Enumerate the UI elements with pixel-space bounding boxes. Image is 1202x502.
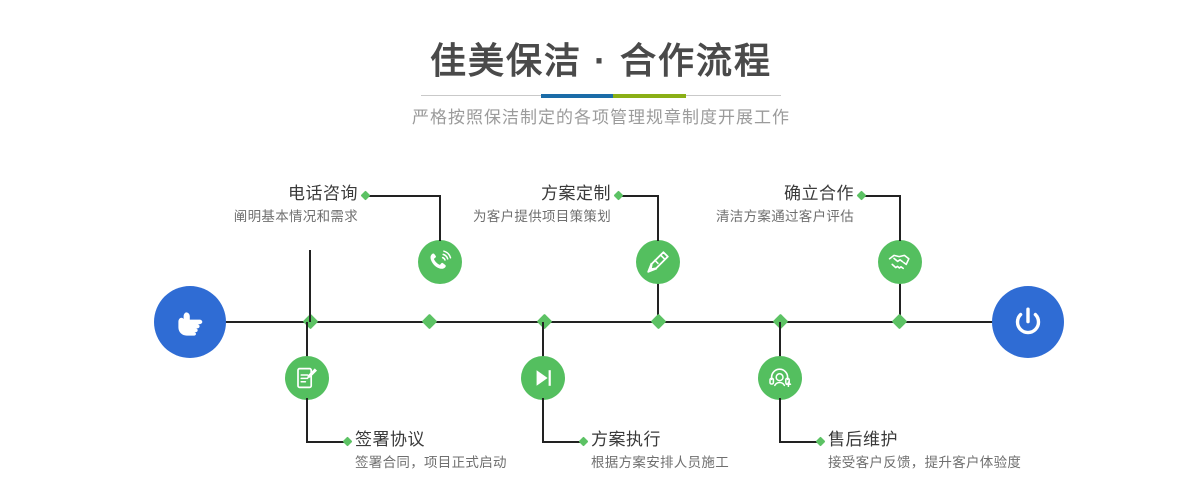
step-node-1[interactable] [418, 240, 462, 284]
label-diamond-1 [361, 191, 371, 201]
play-skip-icon [530, 365, 556, 391]
timeline-start-node[interactable] [154, 286, 226, 358]
label-diamond-5 [857, 191, 867, 201]
elbow-h-5 [863, 195, 901, 197]
step-node-4[interactable] [521, 356, 565, 400]
stem-6 [779, 322, 781, 358]
elbow-h-6 [779, 441, 819, 443]
title-divider [421, 94, 781, 98]
page-subtitle: 严格按照保洁制定的各项管理规章制度开展工作 [0, 106, 1202, 130]
customer-support-add-icon [767, 365, 793, 391]
divider-segment-green [613, 94, 686, 98]
step-node-6[interactable] [758, 356, 802, 400]
label-diamond-2 [343, 437, 353, 447]
step-node-2[interactable] [285, 356, 329, 400]
step-desc-6: 接受客户反馈，提升客户体验度 [828, 453, 1118, 473]
axis-diamond-2 [422, 314, 438, 330]
step-title-1: 电话咨询 [140, 183, 358, 205]
elbow-v-6 [779, 398, 781, 442]
handshake-icon [887, 249, 913, 275]
step-label-1: 电话咨询 阐明基本情况和需求 [140, 183, 358, 227]
axis-diamond-6 [892, 314, 908, 330]
step-label-5: 确立合作 清洁方案通过客户评估 [624, 183, 854, 227]
stem-4 [542, 322, 544, 358]
document-pen-icon [294, 365, 320, 391]
elbow-h-2 [306, 441, 346, 443]
pointing-hand-icon [170, 302, 210, 342]
step-title-3: 方案定制 [380, 183, 611, 205]
elbow-h-4 [542, 441, 582, 443]
step-label-6: 售后维护 接受客户反馈，提升客户体验度 [828, 429, 1118, 473]
step-desc-3: 为客户提供项目策策划 [380, 207, 611, 227]
step-node-5[interactable] [878, 240, 922, 284]
step-label-4: 方案执行 根据方案安排人员施工 [591, 429, 841, 473]
step-label-2: 签署协议 签署合同，项目正式启动 [355, 429, 605, 473]
axis-diamond-4 [651, 314, 667, 330]
step-desc-4: 根据方案安排人员施工 [591, 453, 841, 473]
pencil-ruler-icon [645, 249, 671, 275]
elbow-v-5 [899, 195, 901, 241]
step-node-3[interactable] [636, 240, 680, 284]
step-desc-5: 清洁方案通过客户评估 [624, 207, 854, 227]
elbow-v-2 [306, 398, 308, 442]
phone-call-icon [427, 249, 453, 275]
step-label-3: 方案定制 为客户提供项目策策划 [380, 183, 611, 227]
axis-diamond-3 [537, 314, 553, 330]
stem-1 [309, 250, 311, 322]
step-title-2: 签署协议 [355, 429, 605, 451]
power-icon [1008, 302, 1048, 342]
process-timeline: 电话咨询 阐明基本情况和需求 签署协议 签署合同，项目正式启动 [0, 150, 1202, 502]
label-diamond-3 [614, 191, 624, 201]
step-title-6: 售后维护 [828, 429, 1118, 451]
stem-2 [306, 322, 308, 358]
step-desc-1: 阐明基本情况和需求 [140, 207, 358, 227]
step-title-4: 方案执行 [591, 429, 841, 451]
step-desc-2: 签署合同，项目正式启动 [355, 453, 605, 473]
page-header: 佳美保洁 · 合作流程 严格按照保洁制定的各项管理规章制度开展工作 [0, 0, 1202, 150]
step-title-5: 确立合作 [624, 183, 854, 205]
elbow-v-4 [542, 398, 544, 442]
timeline-end-node[interactable] [992, 286, 1064, 358]
page-title: 佳美保洁 · 合作流程 [0, 38, 1202, 84]
divider-segment-blue [541, 94, 613, 98]
